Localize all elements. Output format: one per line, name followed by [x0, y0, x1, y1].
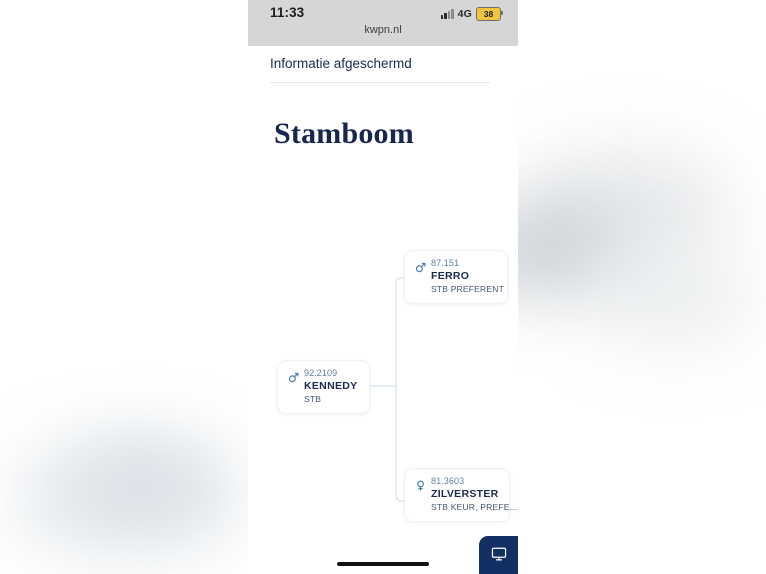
pedigree-node-body: 81.3603 ZILVERSTER STB KEUR, PREFE... — [431, 476, 498, 513]
battery-low-power-icon: 38 — [476, 7, 501, 21]
male-mars-icon — [288, 370, 299, 388]
background-blob — [520, 150, 730, 270]
pedigree-node-qualification: STB PREFERENT — [431, 284, 496, 295]
pedigree-tree: 92.2109 KENNEDY STB 87.151 FERRO STB PRE… — [248, 240, 518, 530]
home-indicator[interactable] — [337, 562, 429, 567]
female-venus-icon — [415, 478, 426, 496]
page-title: Stamboom — [274, 117, 518, 151]
pedigree-node-id: 87.151 — [431, 258, 496, 269]
status-bar-indicators: 4G 38 — [441, 7, 501, 21]
pedigree-node-body: 92.2109 KENNEDY STB — [304, 368, 357, 405]
pedigree-node-name: ZILVERSTER — [431, 487, 498, 502]
page-header: Informatie afgeschermd — [248, 46, 518, 83]
pedigree-node-kennedy[interactable]: 92.2109 KENNEDY STB — [277, 360, 370, 414]
pedigree-node-body: 87.151 FERRO STB PREFERENT — [431, 258, 496, 295]
battery-percent-label: 38 — [484, 10, 493, 19]
status-bar-time: 11:33 — [270, 5, 304, 20]
network-type-label: 4G — [458, 8, 472, 20]
background-blob — [10, 444, 240, 554]
background-blob — [586, 255, 756, 345]
browser-url-label: kwpn.nl — [248, 24, 518, 36]
pedigree-node-qualification: STB KEUR, PREFE... — [431, 502, 498, 513]
pedigree-node-zilverster[interactable]: 81.3603 ZILVERSTER STB KEUR, PREFE... — [404, 468, 510, 522]
pedigree-node-name: KENNEDY — [304, 379, 357, 394]
pedigree-node-name: FERRO — [431, 269, 496, 284]
pedigree-node-ferro[interactable]: 87.151 FERRO STB PREFERENT — [404, 250, 508, 304]
status-bar: 11:33 4G 38 kwpn.nl — [248, 0, 518, 46]
signal-bars-icon — [441, 9, 454, 19]
pedigree-node-id: 81.3603 — [431, 476, 498, 487]
background-blob — [70, 439, 220, 519]
monitor-screen-icon — [490, 545, 508, 568]
pedigree-node-qualification: STB — [304, 394, 357, 405]
info-shielded-notice: Informatie afgeschermd — [270, 56, 496, 82]
pedigree-node-id: 92.2109 — [304, 368, 357, 379]
phone-viewport: 11:33 4G 38 kwpn.nl Informatie afgescher… — [248, 0, 518, 574]
header-divider — [270, 82, 490, 83]
desktop-view-button[interactable] — [479, 536, 518, 574]
male-mars-icon — [415, 260, 426, 278]
